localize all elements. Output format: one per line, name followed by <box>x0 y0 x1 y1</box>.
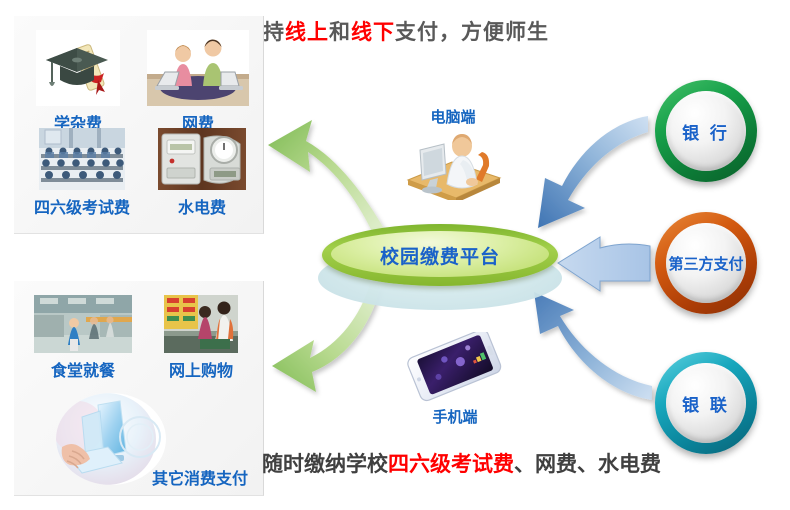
bank-label: 银 行 <box>655 80 757 182</box>
endpoint-third-party[interactable]: 第三方支付 <box>655 212 757 314</box>
arrow-thirdparty-to-platform <box>558 237 650 291</box>
third-party-label: 第三方支付 <box>655 212 757 314</box>
footer-caption: 随时缴纳学校四六级考试费、网费、水电费 <box>262 448 702 478</box>
mobile-channel-label: 手机端 <box>400 406 510 427</box>
caption-segment-2-accent: 四六级考试费 <box>388 453 514 476</box>
unionpay-label: 银 联 <box>655 352 757 454</box>
endpoint-bank[interactable]: 银 行 <box>655 80 757 182</box>
caption-segment-3: 、网费、水电费 <box>514 453 661 476</box>
platform-label: 校园缴费平台 <box>322 224 558 286</box>
arrow-bank-to-platform <box>538 116 648 228</box>
diagram-canvas: 支持线上和线下支付，方便师生 <box>0 0 790 510</box>
arrow-unionpay-to-platform <box>534 292 652 400</box>
desktop-user-icon <box>400 128 506 200</box>
campus-payment-platform[interactable]: 校园缴费平台 <box>322 224 558 286</box>
caption-segment-1: 随时缴纳学校 <box>262 453 388 476</box>
arrow-platform-to-fees <box>268 120 385 238</box>
pc-channel-label: 电脑端 <box>398 106 508 127</box>
smartphone-icon <box>398 332 512 402</box>
endpoint-unionpay[interactable]: 银 联 <box>655 352 757 454</box>
